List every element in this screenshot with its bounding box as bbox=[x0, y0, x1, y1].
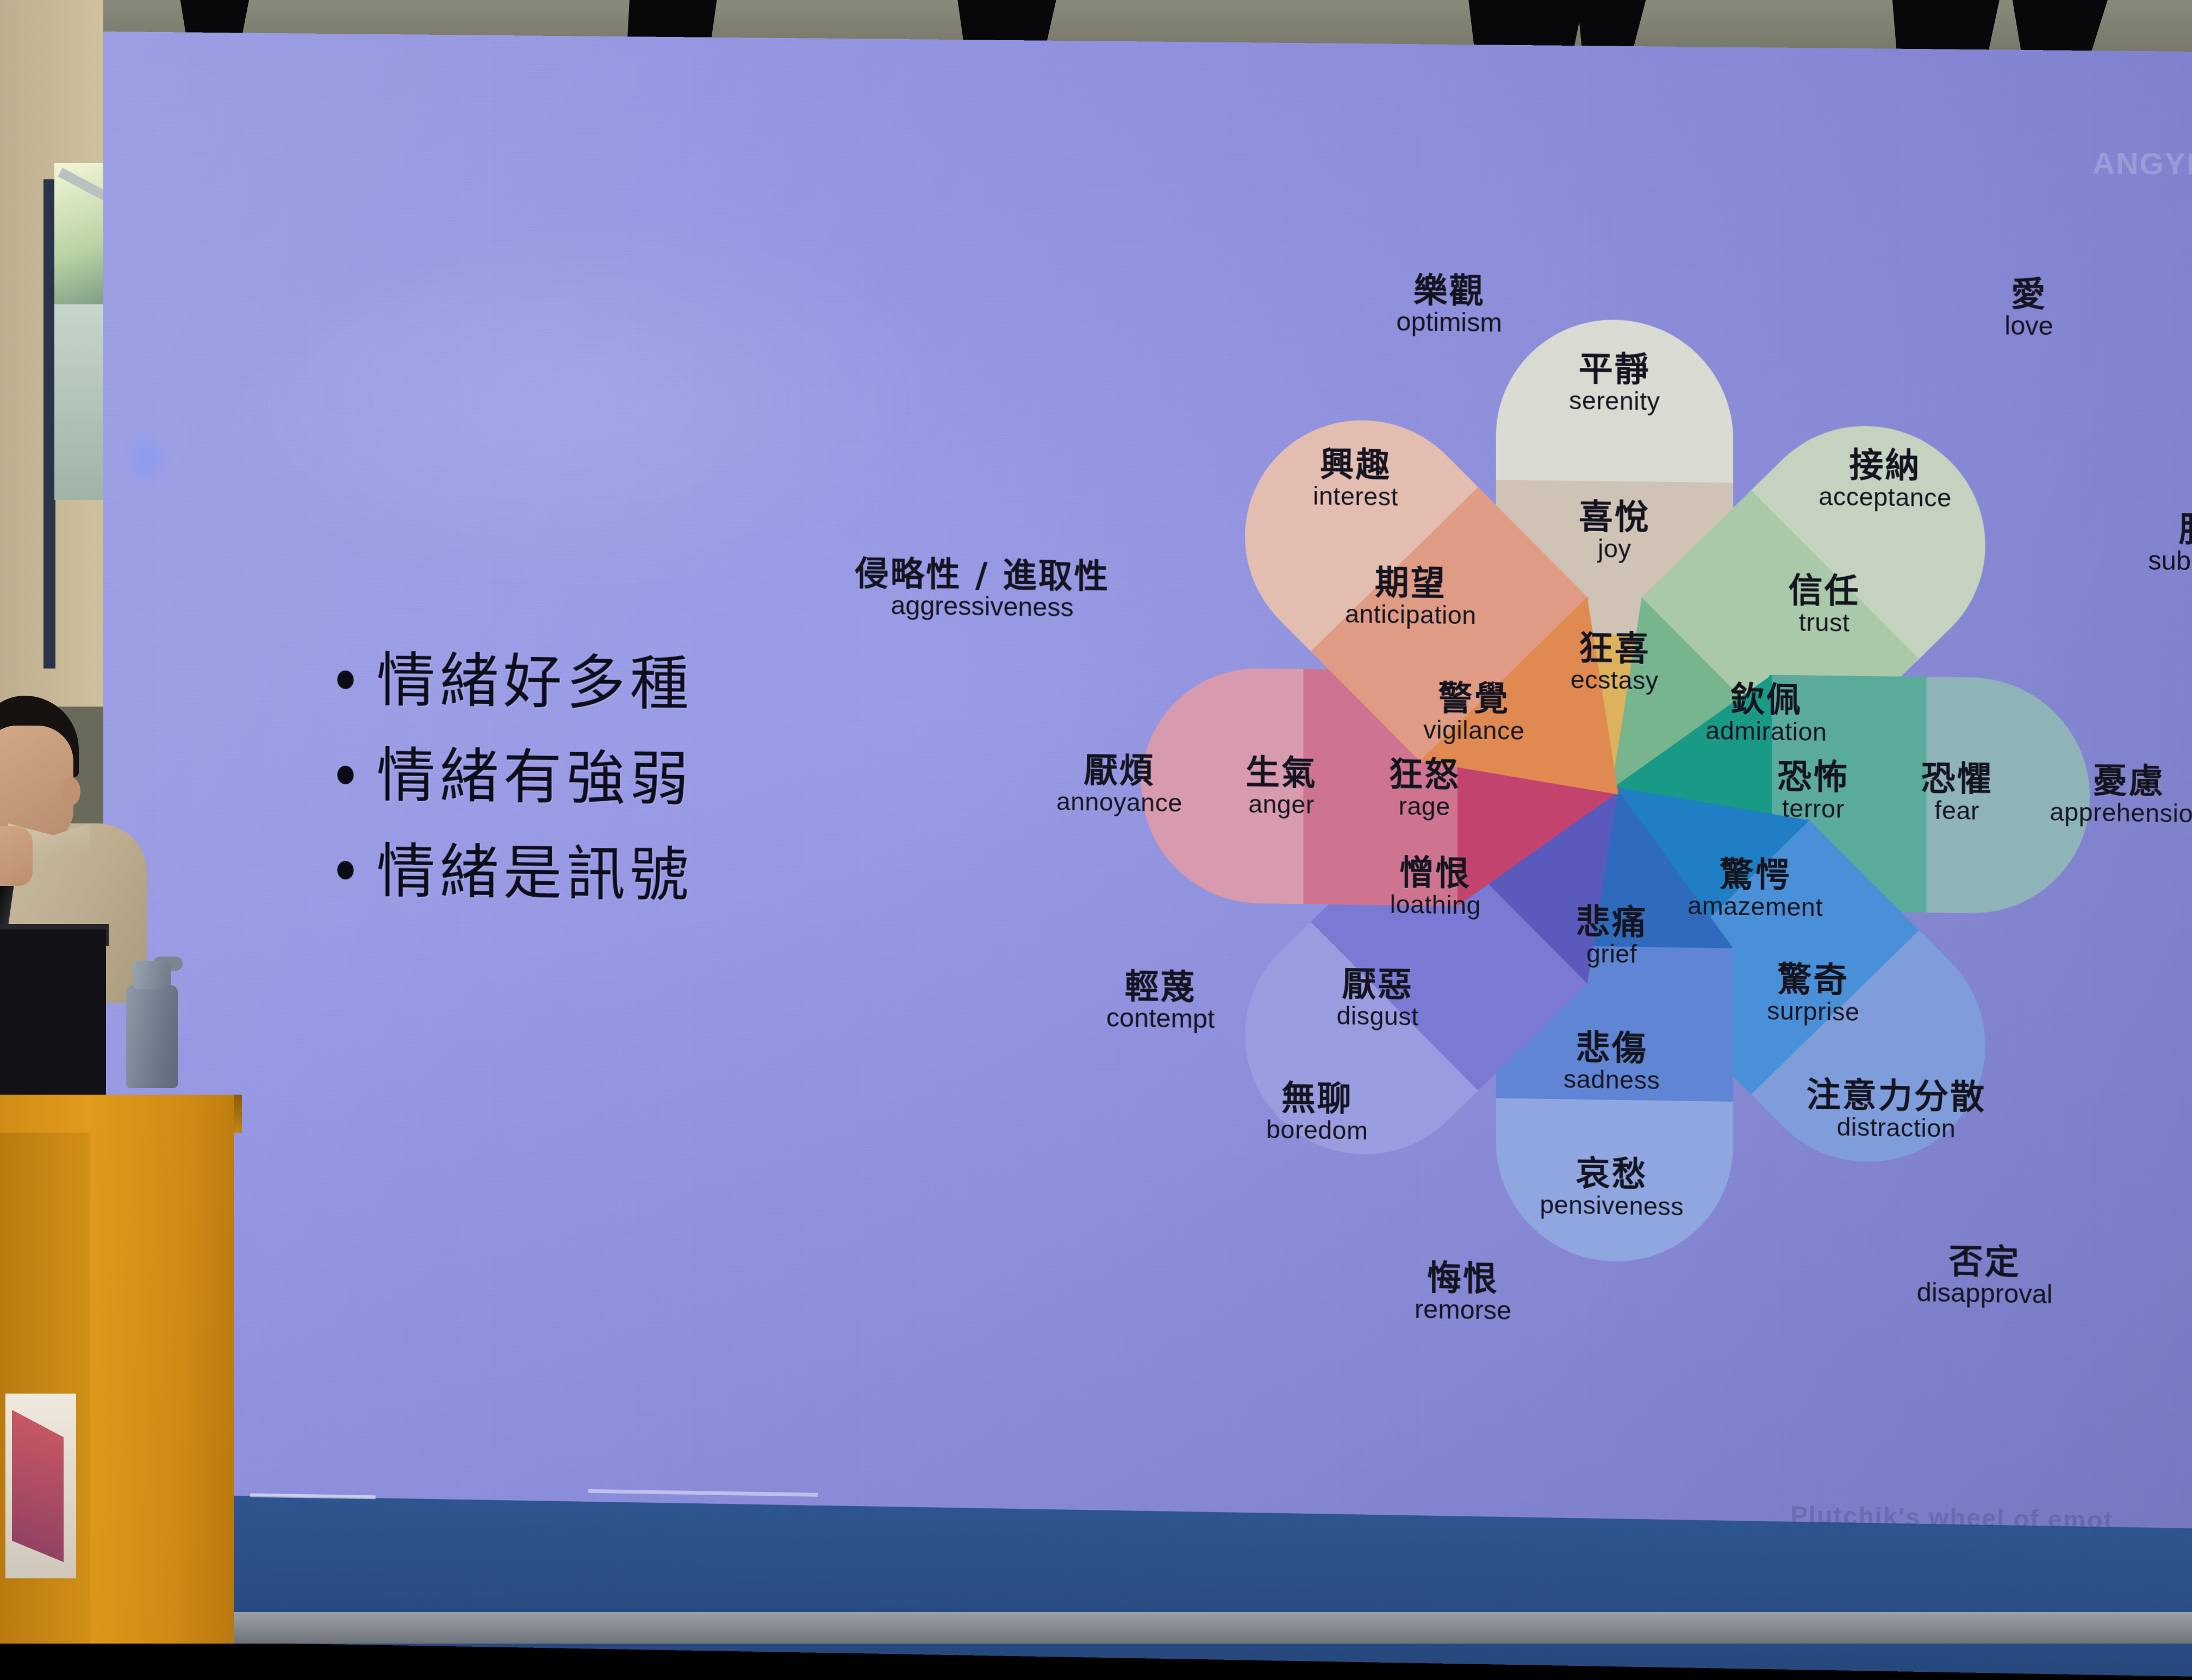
screen-light-artifact bbox=[114, 417, 179, 499]
label-surprise: 驚奇 surprise bbox=[1697, 961, 1929, 1027]
label-distraction: 注意力分散 distraction bbox=[1780, 1078, 2012, 1143]
slide-bullet-list: 情緒好多種 情緒有強弱 情緒是訊號 bbox=[337, 648, 911, 942]
room-background: ANGYI 情緒好多種 情緒有強弱 情緒是訊號 bbox=[0, 0, 2192, 1644]
presenter-hand bbox=[0, 826, 33, 886]
label-terror: 恐怖 terror bbox=[1697, 759, 1929, 823]
dyad-label-awe: 敬畏 awe bbox=[2057, 980, 2192, 1048]
label-serenity: 平靜 serenity bbox=[1499, 351, 1730, 415]
list-item: 情緒是訊號 bbox=[337, 840, 911, 909]
window-glass-lower bbox=[54, 304, 109, 500]
dyad-label-love: 愛 love bbox=[1858, 276, 2192, 342]
label-vigilance: 警覺 vigilance bbox=[1359, 680, 1590, 745]
label-acceptance: 接納 acceptance bbox=[1769, 447, 2001, 512]
plutchik-emotion-wheel: 平靜 serenity 喜悅 joy 狂喜 ecstasy 接納 accepta… bbox=[955, 203, 2192, 1535]
bullet-text: 情緒是訊號 bbox=[377, 840, 693, 907]
projection-screen: ANGYI 情緒好多種 情緒有強弱 情緒是訊號 bbox=[103, 32, 2192, 1677]
bullet-dot-icon bbox=[337, 861, 353, 879]
label-rage: 狂怒 rage bbox=[1309, 757, 1540, 821]
bullet-text: 情緒好多種 bbox=[377, 649, 693, 715]
dyad-label-optimism: 樂觀 optimism bbox=[1279, 272, 1620, 339]
water-bottle bbox=[126, 957, 178, 1087]
watermark-top-right: ANGYI bbox=[2093, 145, 2192, 182]
bullet-dot-icon bbox=[337, 670, 353, 689]
label-admiration: 欽佩 admiration bbox=[1651, 682, 1883, 746]
label-loathing: 憎恨 loathing bbox=[1320, 855, 1551, 920]
label-interest: 興趣 interest bbox=[1240, 447, 1471, 511]
label-trust: 信任 trust bbox=[1708, 573, 1940, 638]
dyad-label-submission: 服從 submission bbox=[2043, 511, 2192, 578]
bullet-dot-icon bbox=[337, 766, 353, 784]
label-sadness: 悲傷 sadness bbox=[1496, 1030, 1728, 1095]
list-item: 情緒有強弱 bbox=[337, 744, 911, 814]
floor bbox=[0, 1612, 2192, 1644]
list-item: 情緒好多種 bbox=[337, 648, 911, 717]
presenter-ear bbox=[61, 777, 80, 805]
bottle-cap bbox=[133, 961, 171, 989]
dyad-label-disapproval: 否定 disapproval bbox=[1813, 1242, 2156, 1311]
bullet-text: 情緒有強弱 bbox=[377, 745, 693, 810]
label-boredom: 無聊 boredom bbox=[1201, 1080, 1433, 1145]
window-frame bbox=[43, 179, 55, 669]
dyad-label-remorse: 悔恨 remorse bbox=[1292, 1259, 1634, 1327]
label-pensiveness: 哀愁 pensiveness bbox=[1496, 1156, 1728, 1221]
label-anticipation: 期望 anticipation bbox=[1295, 565, 1526, 630]
dyad-label-contempt: 輕蔑 contempt bbox=[991, 968, 1331, 1035]
dyad-label-aggressiveness: 侵略性 / 進取性 aggressiveness bbox=[774, 556, 1191, 624]
laptop[interactable] bbox=[0, 929, 106, 1098]
label-joy: 喜悅 joy bbox=[1499, 499, 1730, 564]
watermark-wheel-title: Plutchik's wheel of emot bbox=[1791, 1500, 2113, 1535]
bottle-body bbox=[126, 985, 178, 1088]
